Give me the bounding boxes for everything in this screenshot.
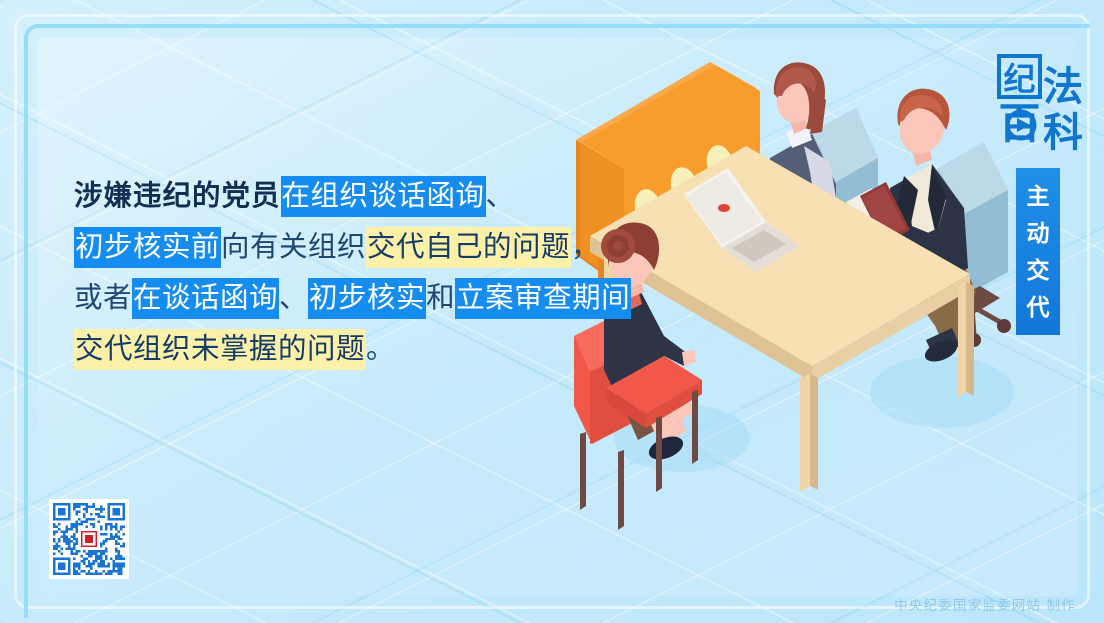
- qr-code-matrix: [53, 503, 125, 575]
- headline-line-1: 涉嫌违纪的党员在组织谈话函询、: [74, 170, 634, 221]
- banner-char: 主: [1027, 180, 1050, 215]
- vertical-banner-zhudongjiaodai: 主 动 交 代: [1016, 168, 1060, 335]
- headline-seg-highlight-blue: 立案审查期间: [455, 278, 631, 319]
- headline-line-3: 或者在谈话函询、初步核实和立案审查期间: [74, 272, 634, 323]
- headline-seg: 向有关组织: [221, 230, 366, 263]
- logo-char-ke: 科: [1043, 110, 1083, 156]
- poster-canvas: 涉嫌违纪的党员在组织谈话函询、 初步核实前向有关组织交代自己的问题， 或者在谈话…: [0, 0, 1104, 623]
- headline-seg: 。: [366, 332, 395, 365]
- laptop-logo-dot: [718, 204, 730, 212]
- headline-seg: 和: [426, 281, 455, 314]
- banner-char: 交: [1027, 254, 1050, 289]
- headline-seg: 或者: [74, 281, 132, 314]
- qr-code[interactable]: [49, 499, 129, 579]
- headline-line-4: 交代组织未掌握的问题。: [74, 323, 634, 374]
- headline-seg: ，: [571, 230, 600, 263]
- headline-seg-highlight-blue: 初步核实: [308, 278, 426, 319]
- headline-text-block: 涉嫌违纪的党员在组织谈话函询、 初步核实前向有关组织交代自己的问题， 或者在谈话…: [74, 170, 634, 374]
- credit-line: 中央纪委国家监委网站 制作: [894, 594, 1076, 614]
- headline-seg: 、: [279, 281, 308, 314]
- headline-seg-highlight-yellow: 交代自己的问题: [366, 227, 571, 268]
- floor-shadow-right: [870, 356, 1014, 428]
- headline-line-2: 初步核实前向有关组织交代自己的问题，: [74, 221, 634, 272]
- logo-char-fa: 法: [1043, 64, 1083, 110]
- brand-logo-jifabaike: 纪 百 法 科: [990, 52, 1086, 170]
- headline-seg: 涉嫌违纪的党员: [74, 179, 281, 212]
- banner-char: 代: [1027, 291, 1050, 326]
- headline-seg-highlight-yellow: 交代组织未掌握的问题: [74, 329, 366, 370]
- banner-char: 动: [1027, 217, 1050, 252]
- headline-seg: 、: [486, 179, 515, 212]
- headline-seg-highlight-blue: 初步核实前: [74, 227, 221, 268]
- headline-seg-highlight-blue: 在谈话函询: [132, 278, 279, 319]
- headline-seg-highlight-blue: 在组织谈话函询: [281, 176, 486, 217]
- logo-char-ji: 纪: [1003, 60, 1035, 98]
